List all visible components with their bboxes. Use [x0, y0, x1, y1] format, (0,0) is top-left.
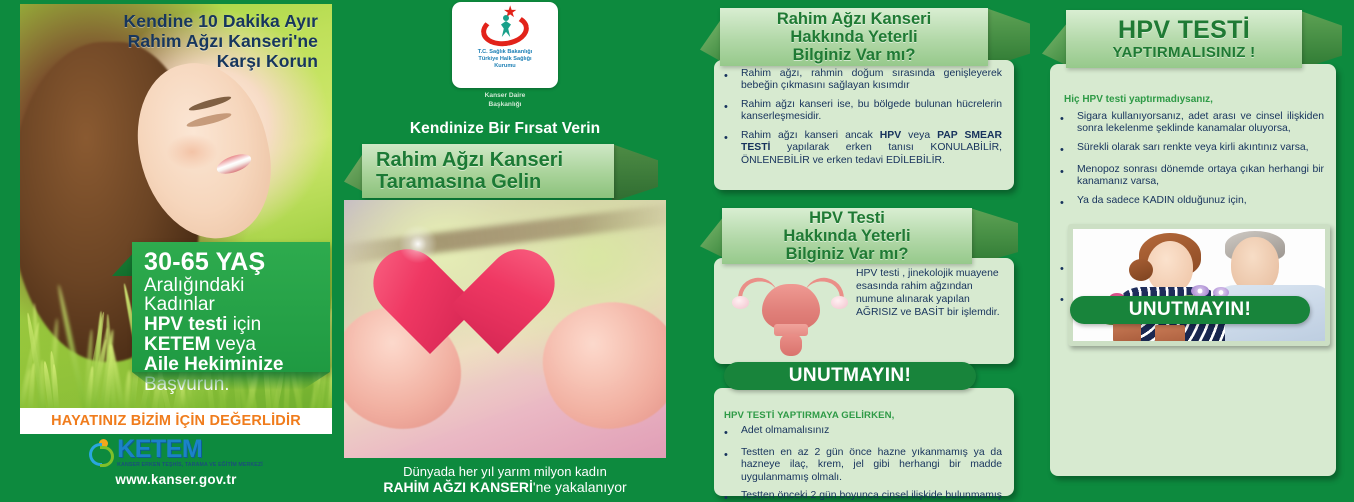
bullet-item: •Menopoz sonrası dönemde ortaya çıkan he… [1060, 164, 1324, 189]
bullet-text: Testten önceki 2 gün boyunca cinsel iliş… [741, 490, 1002, 502]
panel-information-cards: •Rahim ağzı, rahmin doğum sırasında geni… [700, 0, 1030, 502]
ribbon-fold-right [612, 144, 658, 202]
ketem-wordmark: KETEM KANSER ERKEN TEŞHİS, TARAMA VE EĞİ… [117, 438, 263, 469]
panel4-wing-right [1298, 10, 1342, 70]
card2-header-line1: HPV Testi [809, 209, 885, 227]
card-remember-preparation: HPV TESTİ YAPTIRMAYA GELİRKEN, •Adet olm… [714, 388, 1014, 496]
grass-blade [329, 367, 332, 408]
bullet-text: Rahim ağzı kanseri ancak HPV veya PAP SM… [741, 130, 1002, 167]
ministry-logo-line3: Kurumu [494, 63, 515, 70]
bullet-item: •Testten önceki 2 gün boyunca cinsel ili… [724, 490, 1002, 502]
callout-line3: Kadınlar [144, 295, 320, 315]
bullet-text: Testten en az 2 gün önce hazne yıkanmamı… [741, 447, 1002, 484]
cheek-shape [166, 134, 218, 170]
bullet-item: •Ya da sadece KADIN olduğunuz için, [1060, 195, 1324, 211]
department-line2: Başkanlığı [452, 101, 558, 110]
hands-heart-photo [344, 200, 666, 458]
callout-line2: Aralığındaki [144, 276, 320, 296]
paper-heart-shape [430, 254, 560, 372]
card-hpv-test-should: Hiç HPV testi yaptırmadıysanız, •Sigara … [1050, 64, 1336, 476]
uterus-icon [730, 274, 850, 350]
bullet-text: Ya da sadece KADIN olduğunuz için, [1077, 195, 1247, 211]
bullet-dot-icon: • [724, 425, 733, 441]
panel1-headline-line1: Kendine 10 Dakika Ayır [30, 12, 318, 32]
card1-bullet-list: •Rahim ağzı, rahmin doğum sırasında geni… [714, 60, 1014, 179]
panel1-headline: Kendine 10 Dakika Ayır Rahim Ağzı Kanser… [30, 12, 326, 71]
bullet-dot-icon: • [724, 447, 733, 484]
card3-banner-text: UNUTMAYIN! [789, 365, 912, 387]
bullet-item: •Rahim ağzı kanseri ancak HPV veya PAP S… [724, 130, 1002, 167]
card1-wing-right [986, 8, 1030, 68]
department-line1: Kanser Daire [452, 92, 558, 101]
panel4-wing-left [1042, 22, 1068, 66]
ketem-logo-word: KETEM [117, 438, 263, 462]
card2-wing-left [700, 216, 724, 258]
card3-remember-banner: UNUTMAYIN! [724, 362, 976, 390]
bullet-text: Rahim ağzı, rahmin doğum sırasında geniş… [741, 68, 1002, 93]
panel2-footer-line2: RAHİM AĞZI KANSERİ'ne yakalanıyor [383, 479, 626, 496]
bullet-item: • Sürekli olarak sarı renkte veya kirli … [1060, 142, 1324, 158]
ministry-logo-line2: Türkiye Halk Sağlığı [478, 56, 531, 63]
ketem-figure-icon [89, 439, 115, 467]
panel2-kicker: Kendinize Bir Fırsat Verin [344, 120, 666, 138]
card1-wing-left [700, 18, 722, 62]
card1-header-line3: Bilginiz Var mı? [793, 46, 916, 64]
bullet-dot-icon: • [1060, 111, 1069, 136]
bullet-dot-icon: • [724, 490, 733, 502]
panel4-bullet-list: •Sigara kullanıyorsanız, adet arası ve c… [1050, 111, 1336, 223]
ministry-of-health-logo: ★ T.C. Sağlık Bakanlığı Türkiye Halk Sağ… [452, 2, 558, 88]
ministry-emblem-icon: ★ [477, 6, 533, 48]
panel2-ribbon-banner: Rahim Ağzı Kanseri Taramasına Gelin [362, 144, 614, 198]
age-range-callout: 30-65 YAŞ Aralığındaki Kadınlar HPV test… [132, 242, 330, 372]
bullet-dot-icon: • [724, 99, 733, 124]
card3-lead: HPV TESTİ YAPTIRMAYA GELİRKEN, [714, 388, 1014, 425]
bullet-dot-icon: • [1060, 195, 1069, 211]
ketem-logo-subtitle: KANSER ERKEN TEŞHİS, TARAMA VE EĞİTİM ME… [117, 462, 263, 468]
panel4-header-line1: HPV TESTİ [1118, 17, 1250, 45]
card2-header-line3: Bilginiz Var mı? [786, 245, 909, 263]
panel1-slogan-bar: HAYATINIZ BİZİM İÇİN DEĞERLİDİR [20, 408, 332, 434]
card2-header: HPV Testi Hakkında Yeterli Bilginiz Var … [722, 208, 972, 264]
bullet-item: •Rahim ağzı kanseri ise, bu bölgede bulu… [724, 99, 1002, 124]
panel1-headline-line2: Rahim Ağzı Kanseri'ne [30, 32, 318, 52]
bullet-dot-icon: • [724, 68, 733, 93]
callout-fold-bottom [132, 372, 330, 390]
sparkle-highlight [396, 222, 440, 266]
bullet-item: •Testten en az 2 gün önce hazne yıkanmam… [724, 447, 1002, 484]
cervical-cancer-awareness-poster: Kendine 10 Dakika Ayır Rahim Ağzı Kanser… [0, 0, 1354, 502]
card2-description: HPV testi , jinekolojik muayene esasında… [856, 268, 1002, 320]
panel4-banner-text: UNUTMAYIN! [1129, 299, 1252, 321]
panel4-remember-banner: UNUTMAYIN! [1070, 296, 1310, 324]
bullet-text: Sürekli olarak sarı renkte veya kirli ak… [1077, 142, 1309, 158]
panel-screening-invitation: ★ T.C. Sağlık Bakanlığı Türkiye Halk Sağ… [344, 0, 666, 502]
panel-hpv-test-recommendation: Hiç HPV testi yaptırmadıysanız, •Sigara … [1042, 0, 1342, 502]
ministry-department-label: Kanser Daire Başkanlığı [452, 92, 558, 109]
card1-header: Rahim Ağzı Kanseri Hakkında Yeterli Bilg… [720, 8, 988, 66]
bullet-item: •Sigara kullanıyorsanız, adet arası ve c… [1060, 111, 1324, 136]
bullet-dot-icon: • [1060, 164, 1069, 189]
bullet-dot-icon: • [724, 130, 733, 167]
callout-line4: HPV testi için [144, 315, 320, 335]
callout-line5: KETEM veya [144, 335, 320, 355]
card1-header-line1: Rahim Ağzı Kanseri [777, 10, 931, 28]
panel1-headline-line3: Karşı Korun [30, 52, 318, 72]
website-url[interactable]: www.kanser.gov.tr [115, 472, 236, 487]
ribbon-fold-left [344, 152, 364, 192]
panel2-footer: Dünyada her yıl yarım milyon kadın RAHİM… [344, 458, 666, 502]
card2-header-line2: Hakkında Yeterli [783, 227, 910, 245]
ribbon-line1: Rahim Ağzı Kanseri [376, 149, 563, 171]
ribbon-line2: Taramasına Gelin [376, 171, 541, 193]
panel1-footer: KETEM KANSER ERKEN TEŞHİS, TARAMA VE EĞİ… [20, 434, 332, 498]
card1-header-line2: Hakkında Yeterli [790, 28, 917, 46]
bullet-dot-icon: • [1060, 142, 1069, 158]
bullet-text: Rahim ağzı kanseri ise, bu bölgede bulun… [741, 99, 1002, 124]
panel4-header: HPV TESTİ YAPTIRMALISINIZ ! [1066, 10, 1302, 68]
card-hpv-test-info: HPV testi , jinekolojik muayene esasında… [714, 258, 1014, 364]
panel4-header-line2: YAPTIRMALISINIZ ! [1113, 45, 1256, 62]
bullet-text: Adet olmamalısınız [741, 425, 829, 441]
ketem-logo: KETEM KANSER ERKEN TEŞHİS, TARAMA VE EĞİ… [89, 438, 263, 468]
panel-ketem-campaign: Kendine 10 Dakika Ayır Rahim Ağzı Kanser… [20, 4, 332, 498]
ministry-logo-line1: T.C. Sağlık Bakanlığı [478, 49, 532, 56]
bullet-item: •Rahim ağzı, rahmin doğum sırasında geni… [724, 68, 1002, 93]
card-cervical-cancer-info: •Rahim ağzı, rahmin doğum sırasında geni… [714, 60, 1014, 190]
card3-bullet-list: •Adet olmamalısınız•Testten en az 2 gün … [714, 425, 1014, 502]
panel2-footer-line1: Dünyada her yıl yarım milyon kadın [403, 464, 607, 480]
callout-age-range: 30-65 YAŞ [144, 250, 320, 276]
elderly-couple-photo [1068, 224, 1330, 346]
bullet-text: Sigara kullanıyorsanız, adet arası ve ci… [1077, 111, 1324, 136]
panel1-slogan-text: HAYATINIZ BİZİM İÇİN DEĞERLİDİR [51, 413, 301, 429]
bullet-text: Menopoz sonrası dönemde ortaya çıkan her… [1077, 164, 1324, 189]
panel4-lead: Hiç HPV testi yaptırmadıysanız, [1050, 64, 1336, 111]
bullet-item: •Adet olmamalısınız [724, 425, 1002, 441]
